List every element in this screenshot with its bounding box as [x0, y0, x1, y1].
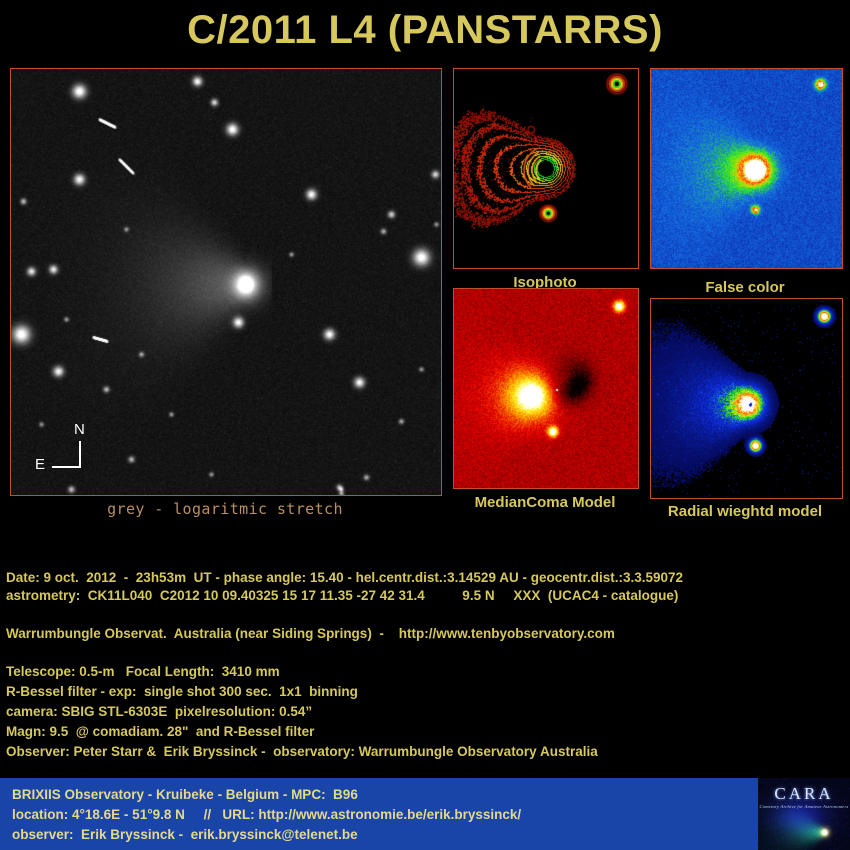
caption-median-coma: MedianComa Model [443, 494, 647, 511]
cara-logo-subtitle: Cometary Archive for Amateur Astronomers [758, 804, 850, 809]
grey-image-canvas-wrap [11, 69, 441, 495]
observatory-line: Warrumbungle Observat. Australia (near S… [6, 624, 615, 643]
equipment-line-5: Observer: Peter Starr & Erik Bryssinck -… [6, 742, 598, 761]
equipment-line-3: camera: SBIG STL-6303E pixelresolution: … [6, 702, 312, 721]
footer-line-3: observer: Erik Bryssinck - erik.bryssinc… [12, 825, 358, 845]
radial-weighted-canvas-wrap [651, 299, 842, 498]
caption-grey: grey - logaritmic stretch [10, 500, 440, 518]
image-panel-false-color [650, 68, 843, 269]
equipment-line-4: Magn: 9.5 @ comadiam. 28" and R-Bessel f… [6, 722, 314, 741]
equipment-line-1: Telescope: 0.5-m Focal Length: 3410 mm [6, 662, 280, 681]
observation-line-1: Date: 9 oct. 2012 - 23h53m UT - phase an… [6, 568, 683, 587]
image-panel-isophoto [453, 68, 639, 269]
caption-radial-weighted: Radial wieghtd model [645, 503, 845, 520]
isophoto-canvas-wrap [454, 69, 638, 268]
radial-weighted-canvas [651, 299, 842, 498]
false-color-canvas [651, 69, 842, 268]
grey-image-canvas [11, 69, 441, 495]
cara-logo: CARA Cometary Archive for Amateur Astron… [758, 778, 850, 850]
footer-line-1: BRIXIIS Observatory - Kruibeke - Belgium… [12, 785, 358, 805]
image-panel-median-coma [453, 288, 639, 489]
image-panel-grey: N E [10, 68, 442, 496]
footer-bar: BRIXIIS Observatory - Kruibeke - Belgium… [0, 778, 850, 850]
poster-root: C/2011 L4 (PANSTARRS) N E grey - logarit… [0, 0, 850, 850]
page-title: C/2011 L4 (PANSTARRS) [0, 8, 850, 53]
median-coma-canvas-wrap [454, 289, 638, 488]
footer-line-2: location: 4°18.6E - 51°9.8 N // URL: htt… [12, 805, 521, 825]
isophoto-canvas [454, 69, 638, 268]
observation-line-2: astrometry: CK11L040 C2012 10 09.40325 1… [6, 586, 678, 605]
cara-logo-title: CARA [758, 784, 850, 804]
false-color-canvas-wrap [651, 69, 842, 268]
caption-false-color: False color [645, 279, 845, 296]
equipment-line-2: R-Bessel filter - exp: single shot 300 s… [6, 682, 358, 701]
image-panel-radial-weighted [650, 298, 843, 499]
median-coma-canvas [454, 289, 638, 488]
